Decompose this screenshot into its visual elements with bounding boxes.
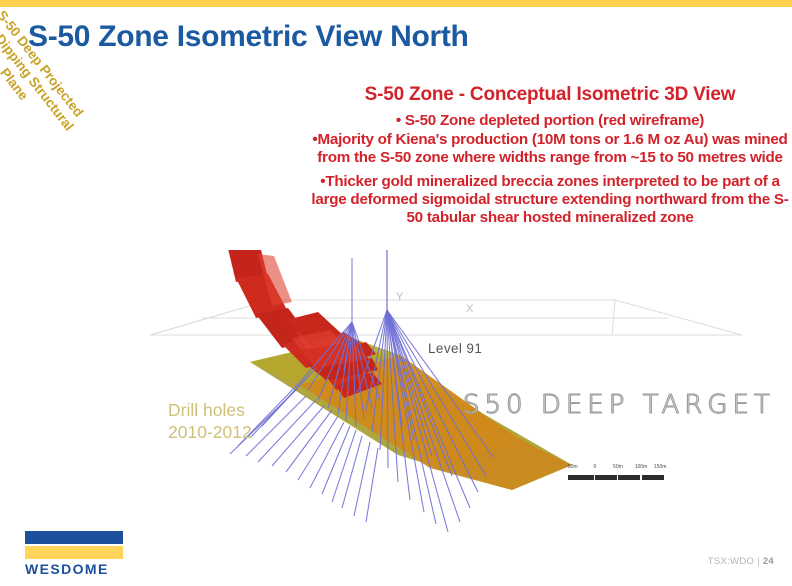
drill-holes-label-line2: 2010-2012 bbox=[168, 422, 252, 444]
footer-ticker: TSX:WDO | 24 bbox=[708, 556, 774, 567]
callout-headline: S-50 Zone - Conceptual Isometric 3D View bbox=[310, 84, 790, 106]
logo-bar-yellow bbox=[25, 546, 123, 559]
footer-page-number: 24 bbox=[763, 556, 774, 567]
callout-bullet-2: •Majority of Kiena's production (10M ton… bbox=[310, 131, 790, 167]
top-accent-bar bbox=[0, 0, 792, 7]
slide-canvas: S-50 Zone Isometric View North S-50 Zone… bbox=[0, 0, 792, 586]
scale-tick-1: 0 bbox=[593, 464, 596, 470]
scale-tick-3: 100m bbox=[635, 464, 648, 470]
wesdome-logo: WESDOME bbox=[25, 531, 123, 577]
scale-tick-2: 50m bbox=[613, 464, 623, 470]
callout-bullet-3: •Thicker gold mineralized breccia zones … bbox=[310, 173, 790, 227]
scale-bar: -50m 0 50m 100m 150m bbox=[568, 464, 664, 480]
grid-plane-icon bbox=[150, 300, 742, 335]
scale-bar-track bbox=[568, 475, 664, 480]
axis-label-x: X bbox=[466, 303, 473, 315]
logo-text: WESDOME bbox=[25, 561, 123, 577]
page-title: S-50 Zone Isometric View North bbox=[28, 20, 469, 54]
logo-bar-blue bbox=[25, 531, 123, 544]
drill-holes-label-line1: Drill holes bbox=[168, 400, 252, 422]
scale-tick-4: 150m bbox=[654, 464, 667, 470]
scale-bar-ticks: -50m 0 50m 100m 150m bbox=[568, 464, 664, 474]
footer-ticker-symbol: TSX:WDO | bbox=[708, 556, 763, 567]
level-91-label: Level 91 bbox=[428, 341, 482, 356]
axis-label-y: Y bbox=[396, 291, 403, 303]
callout-text-block: S-50 Zone - Conceptual Isometric 3D View… bbox=[310, 84, 790, 227]
scale-tick-0: -50m bbox=[566, 464, 577, 470]
drill-holes-label: Drill holes 2010-2012 bbox=[168, 400, 252, 444]
s50-deep-target-label: S50 DEEP TARGET bbox=[463, 390, 775, 420]
callout-bullet-1: • S-50 Zone depleted portion (red wirefr… bbox=[310, 112, 790, 130]
